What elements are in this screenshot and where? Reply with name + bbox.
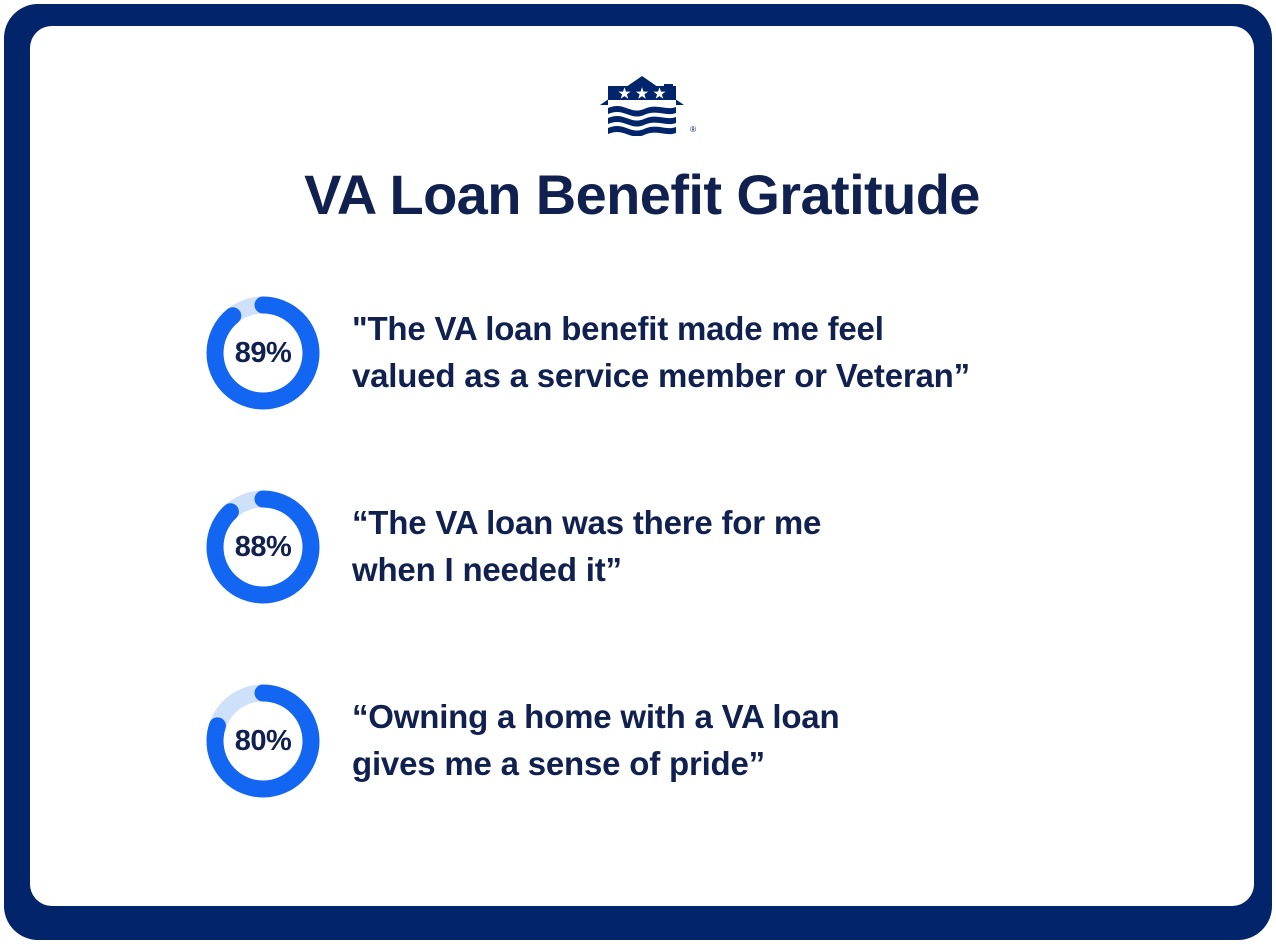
stat-quote-line1: "The VA loan benefit made me feel [352, 310, 884, 347]
donut-chart-88: 88% [202, 486, 324, 608]
stat-quote: "The VA loan benefit made me feel valued… [352, 306, 970, 400]
donut-percent-label: 89% [202, 292, 324, 414]
stat-quote: “Owning a home with a VA loan gives me a… [352, 694, 839, 788]
stat-quote-line1: “The VA loan was there for me [352, 504, 821, 541]
donut-chart-80: 80% [202, 680, 324, 802]
infographic-outer-frame: ® VA Loan Benefit Gratitude 89% "The VA … [4, 4, 1272, 940]
stat-quote-line2: valued as a service member or Veteran” [352, 357, 970, 394]
brand-logo: ® [30, 74, 1254, 136]
donut-chart-89: 89% [202, 292, 324, 414]
page-title: VA Loan Benefit Gratitude [30, 164, 1254, 226]
list-item: 80% “Owning a home with a VA loan gives … [30, 676, 1254, 806]
stat-list: 89% "The VA loan benefit made me feel va… [30, 288, 1254, 806]
infographic-card: ® VA Loan Benefit Gratitude 89% "The VA … [30, 26, 1254, 906]
list-item: 88% “The VA loan was there for me when I… [30, 482, 1254, 612]
stat-quote-line2: when I needed it” [352, 551, 622, 588]
donut-percent-label: 88% [202, 486, 324, 608]
list-item: 89% "The VA loan benefit made me feel va… [30, 288, 1254, 418]
registered-trademark-mark: ® [690, 126, 696, 134]
va-house-logo-icon [594, 74, 690, 136]
donut-percent-label: 80% [202, 680, 324, 802]
stat-quote-line2: gives me a sense of pride” [352, 745, 765, 782]
stat-quote-line1: “Owning a home with a VA loan [352, 698, 839, 735]
stat-quote: “The VA loan was there for me when I nee… [352, 500, 821, 594]
